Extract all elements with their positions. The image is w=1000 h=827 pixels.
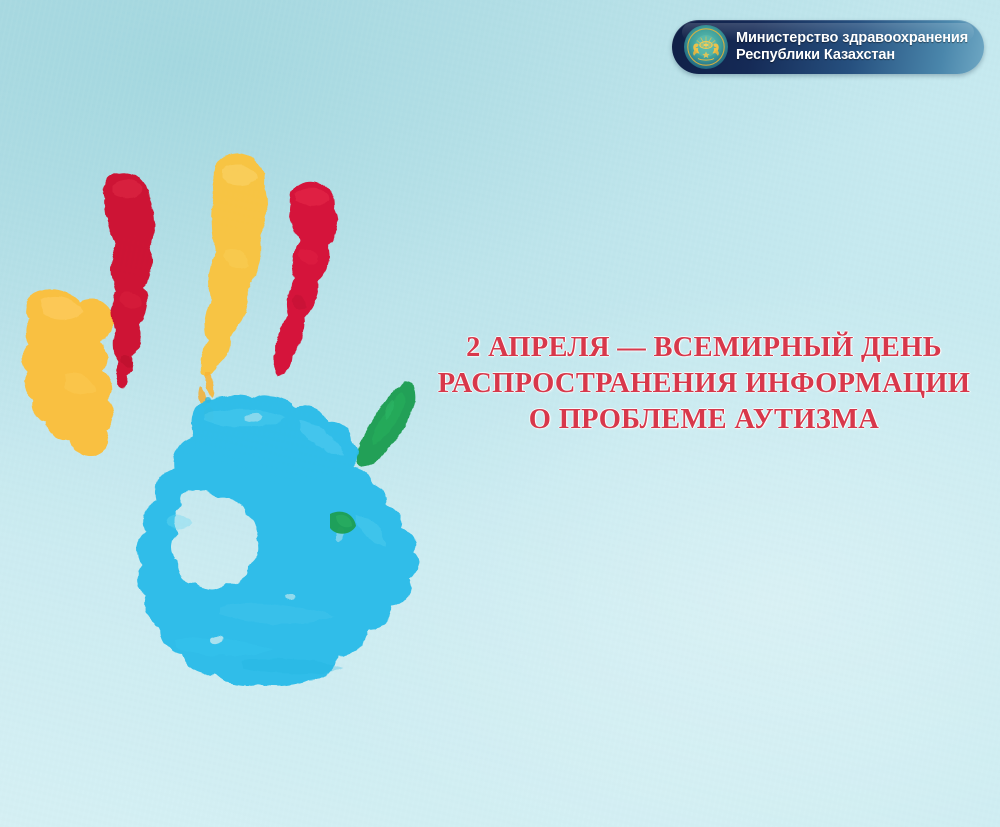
headline-line-1: 2 АПРЕЛЯ — ВСЕМИРНЫЙ ДЕНЬ	[424, 330, 984, 366]
headline-line-3: О ПРОБЛЕМЕ АУТИЗМА	[424, 402, 984, 438]
ministry-badge[interactable]: Министерство здравоохранения Республики …	[672, 20, 984, 74]
ministry-badge-text: Министерство здравоохранения Республики …	[736, 30, 968, 64]
kazakhstan-coat-of-arms-emblem	[684, 25, 728, 69]
ministry-badge-line-2: Республики Казахстан	[736, 47, 968, 64]
ministry-badge-line-1: Министерство здравоохранения	[736, 30, 968, 47]
headline-line-2: РАСПРОСТРАНЕНИЯ ИНФОРМАЦИИ	[424, 366, 984, 402]
page-title: 2 АПРЕЛЯ — ВСЕМИРНЫЙ ДЕНЬ РАСПРОСТРАНЕНИ…	[424, 330, 984, 438]
autism-awareness-poster: Министерство здравоохранения Республики …	[0, 0, 1000, 827]
